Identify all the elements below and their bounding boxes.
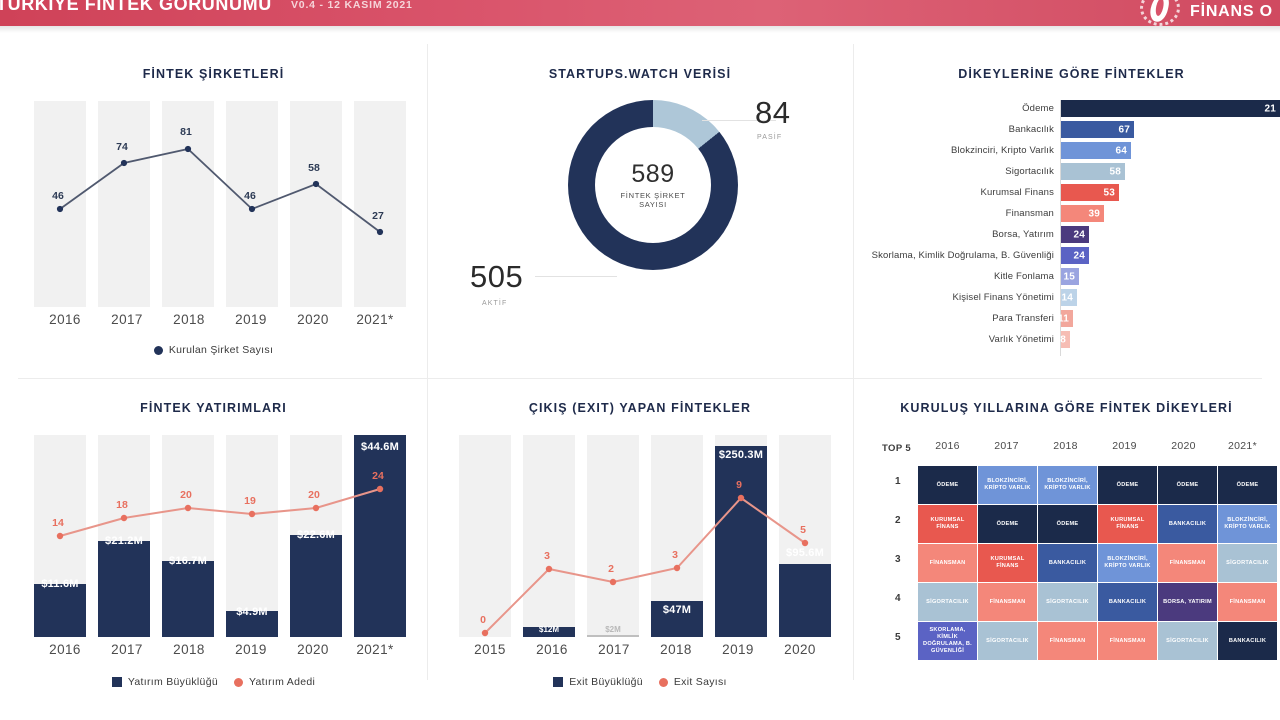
hbar-row[interactable]: Kişisel Finans Yönetimi 14 — [1061, 289, 1077, 306]
hbar-category: Skorlama, Kimlik Doğrulama, B. Güvenliği — [872, 250, 1061, 261]
matrix-cell-label: BLOKZİNCİRİ, KRİPTO VARLIK — [1099, 556, 1156, 570]
matrix-cell-label: BANKACILIK — [1049, 560, 1086, 567]
panel-startups-watch: STARTUPS.WATCH VERİSİ 589 FİNTEK ŞİRKET … — [427, 56, 853, 366]
hbar-category: Borsa, Yatırım — [992, 229, 1061, 240]
legend-fintek-sirketleri: Kurulan Şirket Sayısı — [0, 344, 427, 356]
hbar-row[interactable]: Para Transferi 11 — [1061, 310, 1073, 327]
hbar-category: Ödeme — [1022, 103, 1061, 114]
matrix-cell[interactable]: SİGORTACILIK — [918, 583, 977, 621]
hbar-value: 21 — [1264, 103, 1276, 114]
hbar-bar: 24 — [1061, 247, 1089, 264]
point-label: 58 — [308, 162, 320, 174]
x-tick: 2018 — [158, 312, 220, 327]
x-tick: 2021* — [344, 312, 406, 327]
logo-subtitle: T.C. CUMHURBAŞKANLIĞI — [1190, 0, 1273, 2]
point-label: 27 — [372, 210, 384, 222]
invest-point-label: 18 — [116, 499, 128, 511]
matrix-cell[interactable]: KURUMSAL FİNANS — [978, 544, 1037, 582]
panel-title-fintek-sirketleri: FİNTEK ŞİRKETLERİ — [0, 67, 427, 81]
panel-fintek-yatirimlari: FİNTEK YATIRIMLARI $11.6M $21.2M $16.7M … — [0, 390, 427, 700]
hbar-value: 14 — [1061, 292, 1073, 303]
matrix-cell-label: BLOKZİNCİRİ, KRİPTO VARLIK — [979, 478, 1036, 492]
hbar-bar: 64 — [1061, 142, 1131, 159]
matrix-cell[interactable]: FİNANSMAN — [918, 544, 977, 582]
invest-point-label: 14 — [52, 517, 64, 529]
x-tick: 2020 — [769, 642, 831, 657]
x-tick: 2020 — [282, 642, 344, 657]
matrix-col-header: 2020 — [1154, 440, 1213, 452]
x-tick: 2018 — [645, 642, 707, 657]
matrix-cell-label: BLOKZİNCİRİ, KRİPTO VARLIK — [1219, 517, 1276, 531]
matrix-row-label: 1 — [895, 476, 901, 487]
matrix-cell-label: SİGORTACILIK — [1226, 560, 1269, 567]
point-label: 46 — [52, 190, 64, 202]
hbar-bar: 67 — [1061, 121, 1134, 138]
matrix-cell-label: ÖDEME — [997, 521, 1019, 528]
matrix-cell-label: FİNANSMAN — [990, 599, 1026, 606]
hbar-bar: 21 — [1061, 100, 1280, 117]
legend-dot-icon — [659, 678, 668, 687]
legend-square-icon — [112, 677, 122, 687]
matrix-cell[interactable]: FİNANSMAN — [1098, 622, 1157, 660]
hbar-value: 58 — [1109, 166, 1121, 177]
invest-point-label: 24 — [372, 470, 384, 482]
donut-active-caption: AKTİF — [482, 300, 507, 307]
legend-item[interactable]: Exit Sayısı — [659, 676, 727, 688]
matrix-cell-label: FİNANSMAN — [1170, 560, 1206, 567]
hbar-category: Kitle Fonlama — [994, 271, 1061, 282]
brand-logo: T.C. CUMHURBAŞKANLIĞI FİNANS O — [1138, 0, 1273, 26]
matrix-cell-label: SİGORTACILIK — [986, 638, 1029, 645]
hbar-value: 64 — [1115, 145, 1127, 156]
hbar-row[interactable]: Finansman 39 — [1061, 205, 1104, 222]
matrix-col-header: 2019 — [1095, 440, 1154, 452]
legend-item[interactable]: Kurulan Şirket Sayısı — [154, 344, 273, 356]
hbar-bar: 15 — [1061, 268, 1079, 285]
legend-label: Yatırım Büyüklüğü — [128, 676, 218, 688]
hbar-category: Varlık Yönetimi — [989, 334, 1061, 345]
x-tick: 2015 — [459, 642, 521, 657]
x-axis-labels: 2016 2017 2018 2019 2020 2021* — [34, 312, 406, 327]
panel-title-fintek-yatirimlari: FİNTEK YATIRIMLARI — [0, 401, 427, 415]
x-tick: 2016 — [34, 642, 96, 657]
matrix-cell[interactable]: BLOKZİNCİRİ, KRİPTO VARLIK — [1038, 466, 1097, 504]
matrix-corner-label: TOP 5 — [882, 443, 911, 454]
hbar-category: Finansman — [1006, 208, 1061, 219]
hbar-row[interactable]: Skorlama, Kimlik Doğrulama, B. Güvenliği… — [1061, 247, 1089, 264]
x-tick: 2020 — [282, 312, 344, 327]
exit-chart-plot: $12M $2M $47M $250.3M $95.6M 0 3 2 3 9 5 — [459, 435, 831, 637]
panel-fintek-sirketleri: FİNTEK ŞİRKETLERİ 46 74 81 46 58 27 — [0, 56, 427, 366]
matrix-cell-label: BORSA, YATIRIM — [1163, 599, 1212, 606]
matrix-cell[interactable]: BLOKZİNCİRİ, KRİPTO VARLIK — [1098, 544, 1157, 582]
x-tick: 2018 — [158, 642, 220, 657]
legend-dot-icon — [154, 346, 163, 355]
matrix-cell-label: SİGORTACILIK — [1046, 599, 1089, 606]
legend-label: Kurulan Şirket Sayısı — [169, 344, 273, 356]
matrix-cell[interactable]: KURUMSAL FİNANS — [1098, 505, 1157, 543]
matrix-cell[interactable]: ÖDEME — [1098, 466, 1157, 504]
matrix-cell[interactable]: FİNANSMAN — [978, 583, 1037, 621]
invest-point-label: 20 — [180, 489, 192, 501]
hbar-value: 53 — [1103, 187, 1115, 198]
hbar-category: Kişisel Finans Yönetimi — [953, 292, 1061, 303]
matrix-cell[interactable]: ÖDEME — [1038, 505, 1097, 543]
header-shadow — [0, 26, 1280, 33]
hbar-bar: 14 — [1061, 289, 1077, 306]
logo-name: FİNANS O — [1190, 3, 1273, 20]
donut-chart: 589 FİNTEK ŞİRKET SAYISI — [568, 100, 738, 270]
line-chart-plot: 46 74 81 46 58 27 — [34, 101, 406, 307]
matrix-cell-label: BANKACILIK — [1169, 521, 1206, 528]
matrix-col-header: 2021* — [1213, 440, 1272, 452]
donut-active-value: 505 — [470, 259, 523, 295]
x-tick: 2019 — [220, 312, 282, 327]
matrix-col-header: 2016 — [918, 440, 977, 452]
hbar-bar: 39 — [1061, 205, 1104, 222]
donut-caption-line1: FİNTEK ŞİRKET — [621, 191, 686, 200]
matrix-cell-label: SİGORTACILIK — [926, 599, 969, 606]
donut-caption-line2: SAYISI — [639, 200, 667, 209]
matrix-cell[interactable]: KURUMSAL FİNANS — [918, 505, 977, 543]
x-tick: 2016 — [34, 312, 96, 327]
legend-item[interactable]: Yatırım Büyüklüğü — [112, 676, 218, 688]
matrix-cell[interactable]: ÖDEME — [978, 505, 1037, 543]
exit-point-label: 2 — [608, 563, 614, 575]
hbar-value: 8 — [1060, 334, 1066, 345]
invest-point-label: 20 — [308, 489, 320, 501]
matrix-cell[interactable]: SİGORTACILIK — [1218, 544, 1277, 582]
page-title: TÜRKİYE FİNTEK GÖRÜNÜMÜ — [0, 0, 272, 15]
matrix-cell-label: FİNANSMAN — [930, 560, 966, 567]
matrix-cell[interactable]: BANKACILIK — [1038, 544, 1097, 582]
invest-point-label: 19 — [244, 495, 256, 507]
hbar-category: Para Transferi — [992, 313, 1061, 324]
logo-mark-icon — [1138, 0, 1182, 26]
matrix-cell-label: ÖDEME — [1117, 482, 1139, 489]
matrix-cell[interactable]: BLOKZİNCİRİ, KRİPTO VARLIK — [1218, 505, 1277, 543]
donut-total-value: 589 — [631, 161, 674, 188]
matrix-cell[interactable]: ÖDEME — [1218, 466, 1277, 504]
matrix-cell[interactable]: BANKACILIK — [1158, 505, 1217, 543]
hbar-row[interactable]: Blokzinciri, Kripto Varlık 64 — [1061, 142, 1131, 159]
point-label: 81 — [180, 126, 192, 138]
legend-item[interactable]: Yatırım Adedi — [234, 676, 315, 688]
matrix-cell[interactable]: SİGORTACILIK — [1158, 622, 1217, 660]
matrix-col-header: 2018 — [1036, 440, 1095, 452]
matrix-cell[interactable]: FİNANSMAN — [1218, 583, 1277, 621]
app-header: TÜRKİYE FİNTEK GÖRÜNÜMÜ V0.4 - 12 KASIM … — [0, 0, 1280, 26]
hbar-row[interactable]: Varlık Yönetimi 8 — [1061, 331, 1070, 348]
exit-point-label: 9 — [736, 479, 742, 491]
version-label: V0.4 - 12 KASIM 2021 — [291, 0, 413, 11]
matrix-cell-label: BANKACILIK — [1229, 638, 1266, 645]
donut-passive-caption: PASİF — [757, 134, 782, 141]
hbar-value: 39 — [1088, 208, 1100, 219]
divider-horizontal — [18, 378, 1262, 379]
matrix-cell[interactable]: SİGORTACILIK — [978, 622, 1037, 660]
matrix-cell-label: SKORLAMA, KİMLİK DOĞRULAMA, B. GÜVENLİĞİ — [919, 627, 976, 655]
x-tick: 2017 — [96, 642, 158, 657]
legend-exit: Exit Büyüklüğü Exit Sayısı — [427, 676, 853, 688]
x-tick: 2021* — [344, 642, 406, 657]
panel-matrix: KURULUŞ YILLARINA GÖRE FİNTEK DİKEYLERİ … — [853, 390, 1280, 700]
hbar-value: 15 — [1063, 271, 1075, 282]
panel-title-startups-watch: STARTUPS.WATCH VERİSİ — [427, 67, 853, 81]
x-tick: 2019 — [220, 642, 282, 657]
hbar-category: Blokzinciri, Kripto Varlık — [951, 145, 1061, 156]
hbar-row[interactable]: Ödeme 21 — [1061, 100, 1280, 117]
matrix-cell[interactable]: SİGORTACILIK — [1038, 583, 1097, 621]
hbar-value: 24 — [1073, 229, 1085, 240]
hbar-bar: 58 — [1061, 163, 1125, 180]
matrix-cell-label: FİNANSMAN — [1050, 638, 1086, 645]
matrix-cell-label: ÖDEME — [1177, 482, 1199, 489]
matrix-cell[interactable]: SKORLAMA, KİMLİK DOĞRULAMA, B. GÜVENLİĞİ — [918, 622, 977, 660]
hbar-value: 11 — [1058, 313, 1069, 324]
point-label: 74 — [116, 141, 128, 153]
x-tick: 2017 — [96, 312, 158, 327]
matrix-cell-label: KURUMSAL FİNANS — [919, 517, 976, 531]
donut-total-caption: FİNTEK ŞİRKET SAYISI — [621, 191, 686, 209]
matrix-row-label: 5 — [895, 632, 901, 643]
legend-fintek-yatirimlari: Yatırım Büyüklüğü Yatırım Adedi — [0, 676, 427, 688]
matrix-column-headers: 2016 2017 2018 2019 2020 2021* — [918, 440, 1280, 452]
legend-item[interactable]: Exit Büyüklüğü — [553, 676, 643, 688]
matrix-cell[interactable]: FİNANSMAN — [1038, 622, 1097, 660]
exit-line-series — [459, 435, 831, 637]
x-tick: 2019 — [707, 642, 769, 657]
matrix-cell-label: ÖDEME — [937, 482, 959, 489]
matrix-cell-label: BANKACILIK — [1109, 599, 1146, 606]
hbar-category: Kurumsal Finans — [980, 187, 1061, 198]
matrix-table: TOP 5 2016 2017 2018 2019 2020 2021* 1 2… — [853, 390, 1280, 680]
matrix-cell-label: KURUMSAL FİNANS — [979, 556, 1036, 570]
panel-dikeyler: DİKEYLERİNE GÖRE FİNTEKLER Ödeme 21 Bank… — [853, 56, 1280, 366]
matrix-cell[interactable]: BANKACILIK — [1218, 622, 1277, 660]
matrix-cell-label: BLOKZİNCİRİ, KRİPTO VARLIK — [1039, 478, 1096, 492]
donut-center: 589 FİNTEK ŞİRKET SAYISI — [595, 127, 711, 243]
hbar-category: Bankacılık — [1009, 124, 1061, 135]
exit-point-label: 3 — [672, 549, 678, 561]
legend-label: Yatırım Adedi — [249, 676, 315, 688]
exit-point-label: 5 — [800, 524, 806, 536]
matrix-cell-label: ÖDEME — [1237, 482, 1259, 489]
hbar-row[interactable]: Kitle Fonlama 15 — [1061, 268, 1079, 285]
x-tick: 2016 — [521, 642, 583, 657]
exit-point-label: 3 — [544, 550, 550, 562]
donut-passive-value: 84 — [755, 95, 790, 131]
legend-square-icon — [553, 677, 563, 687]
matrix-cell[interactable]: ÖDEME — [918, 466, 977, 504]
matrix-cell-label: KURUMSAL FİNANS — [1099, 517, 1156, 531]
matrix-cell[interactable]: BLOKZİNCİRİ, KRİPTO VARLIK — [978, 466, 1037, 504]
x-tick: 2017 — [583, 642, 645, 657]
panel-exit: ÇIKIŞ (EXIT) YAPAN FİNTEKLER $12M $2M $4… — [427, 390, 853, 700]
panel-title-dikeyler: DİKEYLERİNE GÖRE FİNTEKLER — [863, 67, 1280, 81]
invest-line-series — [34, 435, 406, 637]
exit-point-label: 0 — [480, 614, 486, 626]
hbar-row[interactable]: Kurumsal Finans 53 — [1061, 184, 1119, 201]
donut-leader-active — [535, 276, 617, 277]
hbar-bar: 8 — [1061, 331, 1070, 348]
hbar-row[interactable]: Borsa, Yatırım 24 — [1061, 226, 1089, 243]
matrix-cell-label: FİNANSMAN — [1230, 599, 1266, 606]
matrix-col-header: 2017 — [977, 440, 1036, 452]
dashboard-root: TÜRKİYE FİNTEK GÖRÜNÜMÜ V0.4 - 12 KASIM … — [0, 0, 1280, 720]
x-axis-labels: 2016 2017 2018 2019 2020 2021* — [34, 642, 406, 657]
hbar-bar: 53 — [1061, 184, 1119, 201]
matrix-cell[interactable]: BANKACILIK — [1098, 583, 1157, 621]
x-axis-labels: 2015 2016 2017 2018 2019 2020 — [459, 642, 831, 657]
panel-title-exit: ÇIKIŞ (EXIT) YAPAN FİNTEKLER — [427, 401, 853, 415]
invest-chart-plot: $11.6M $21.2M $16.7M $4.9M $22.6M $44.6M… — [34, 435, 406, 637]
hbar-category: Sigortacılık — [1005, 166, 1061, 177]
hbar-bar: 24 — [1061, 226, 1089, 243]
matrix-row-label: 3 — [895, 554, 901, 565]
legend-label: Exit Büyüklüğü — [569, 676, 643, 688]
point-label: 46 — [244, 190, 256, 202]
hbar-value: 67 — [1118, 124, 1130, 135]
matrix-row-label: 2 — [895, 515, 901, 526]
hbar-row[interactable]: Bankacılık 67 — [1061, 121, 1134, 138]
matrix-row-label: 4 — [895, 593, 901, 604]
matrix-cell-label: ÖDEME — [1057, 521, 1079, 528]
matrix-cell[interactable]: ÖDEME — [1158, 466, 1217, 504]
legend-label: Exit Sayısı — [674, 676, 727, 688]
matrix-cell[interactable]: BORSA, YATIRIM — [1158, 583, 1217, 621]
hbar-bar: 11 — [1061, 310, 1073, 327]
hbar-row[interactable]: Sigortacılık 58 — [1061, 163, 1125, 180]
hbar-value: 24 — [1073, 250, 1085, 261]
matrix-cell[interactable]: FİNANSMAN — [1158, 544, 1217, 582]
legend-dot-icon — [234, 678, 243, 687]
matrix-cell-label: FİNANSMAN — [1110, 638, 1146, 645]
hbar-chart: Ödeme 21 Bankacılık 67 Blokzinciri, Krip… — [1061, 100, 1280, 360]
line-series-kurulan-sirket — [34, 101, 406, 307]
matrix-cell-label: SİGORTACILIK — [1166, 638, 1209, 645]
